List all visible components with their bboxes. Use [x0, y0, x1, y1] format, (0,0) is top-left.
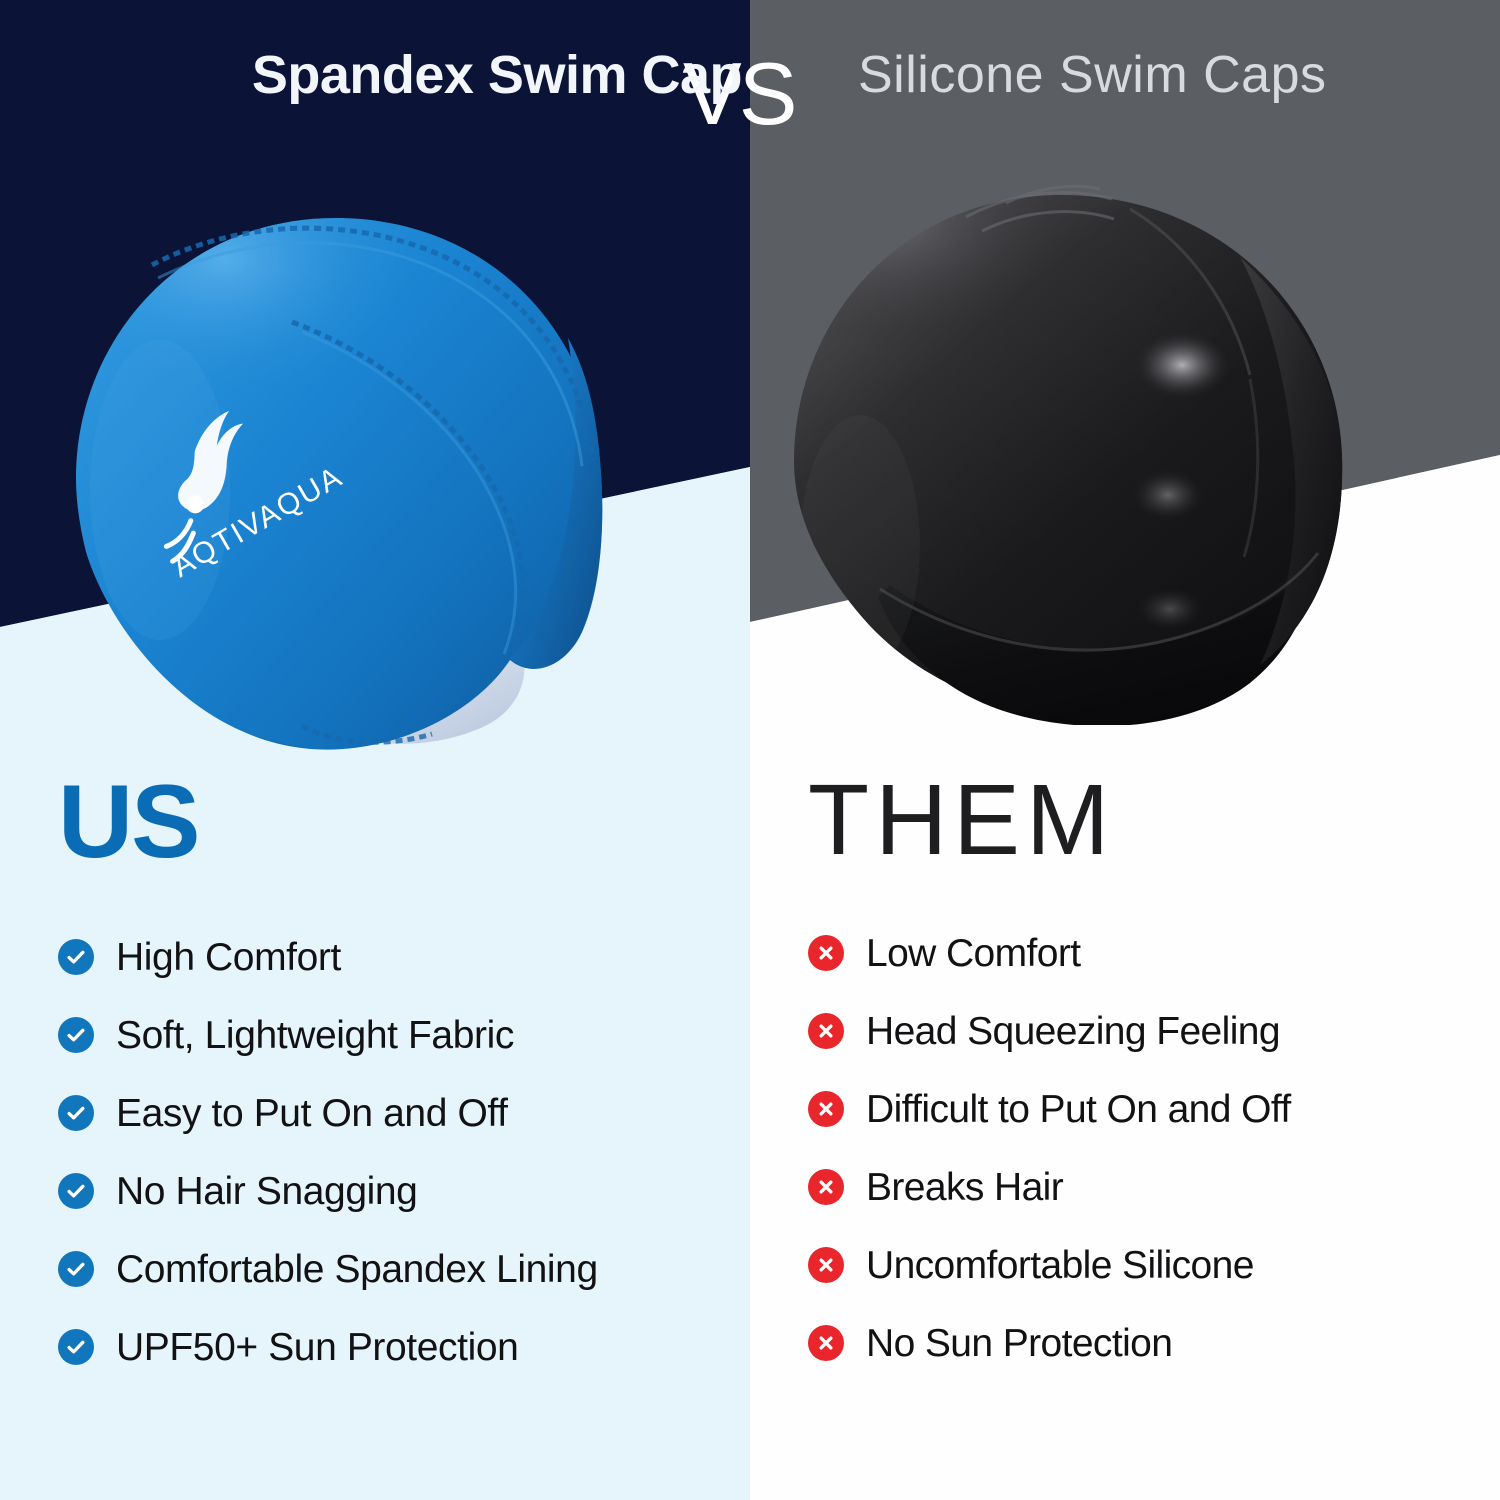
- us-item-label: Comfortable Spandex Lining: [116, 1250, 598, 1289]
- them-item-label: Uncomfortable Silicone: [866, 1246, 1254, 1285]
- header-right-title: Silicone Swim Caps: [750, 45, 1500, 105]
- list-item: Uncomfortable Silicone: [808, 1226, 1478, 1304]
- them-item-label: Breaks Hair: [866, 1168, 1063, 1207]
- list-item: Low Comfort: [808, 914, 1478, 992]
- list-item: Soft, Lightweight Fabric: [58, 996, 738, 1074]
- silicone-swim-cap-image: [770, 165, 1390, 725]
- check-circle-icon: [58, 1017, 94, 1053]
- check-circle-icon: [58, 1251, 94, 1287]
- cross-circle-icon: [808, 1247, 844, 1283]
- us-item-label: Soft, Lightweight Fabric: [116, 1016, 514, 1055]
- them-feature-list: Low Comfort Head Squeezing Feeling Diffi…: [808, 914, 1478, 1382]
- them-item-label: Head Squeezing Feeling: [866, 1012, 1280, 1051]
- check-circle-icon: [58, 939, 94, 975]
- list-item: No Hair Snagging: [58, 1152, 738, 1230]
- us-item-label: High Comfort: [116, 938, 341, 977]
- silicone-specular-2: [1132, 469, 1204, 521]
- list-item: No Sun Protection: [808, 1304, 1478, 1382]
- list-item: UPF50+ Sun Protection: [58, 1308, 738, 1386]
- them-item-label: Difficult to Put On and Off: [866, 1090, 1291, 1129]
- cross-circle-icon: [808, 1169, 844, 1205]
- them-item-label: Low Comfort: [866, 934, 1080, 973]
- us-item-label: No Hair Snagging: [116, 1172, 417, 1211]
- list-item: High Comfort: [58, 918, 738, 996]
- cross-circle-icon: [808, 1325, 844, 1361]
- comparison-infographic: Spandex Swim Cap Silicone Swim Caps VS: [0, 0, 1500, 1500]
- list-item: Easy to Put On and Off: [58, 1074, 738, 1152]
- cross-circle-icon: [808, 1091, 844, 1127]
- check-circle-icon: [58, 1173, 94, 1209]
- us-item-label: UPF50+ Sun Protection: [116, 1328, 518, 1367]
- spandex-swim-cap-image: AQTIVAQUA: [40, 160, 660, 760]
- silicone-edge-light: [800, 415, 920, 675]
- us-title: US: [58, 770, 738, 874]
- us-column: US High Comfort Soft, Lightweight Fabric…: [58, 770, 738, 1386]
- us-item-label: Easy to Put On and Off: [116, 1094, 508, 1133]
- list-item: Head Squeezing Feeling: [808, 992, 1478, 1070]
- header-left-title: Spandex Swim Cap: [0, 44, 750, 106]
- cross-circle-icon: [808, 935, 844, 971]
- check-circle-icon: [58, 1329, 94, 1365]
- list-item: Breaks Hair: [808, 1148, 1478, 1226]
- silicone-specular-1: [1134, 331, 1230, 399]
- cross-circle-icon: [808, 1013, 844, 1049]
- list-item: Difficult to Put On and Off: [808, 1070, 1478, 1148]
- check-circle-icon: [58, 1095, 94, 1131]
- them-column: THEM Low Comfort Head Squeezing Feeling …: [808, 770, 1478, 1382]
- us-feature-list: High Comfort Soft, Lightweight Fabric Ea…: [58, 918, 738, 1386]
- them-title: THEM: [808, 770, 1478, 870]
- list-item: Comfortable Spandex Lining: [58, 1230, 738, 1308]
- them-item-label: No Sun Protection: [866, 1324, 1172, 1363]
- silicone-specular-3: [1136, 587, 1204, 631]
- header-bar: Spandex Swim Cap Silicone Swim Caps: [0, 0, 1500, 150]
